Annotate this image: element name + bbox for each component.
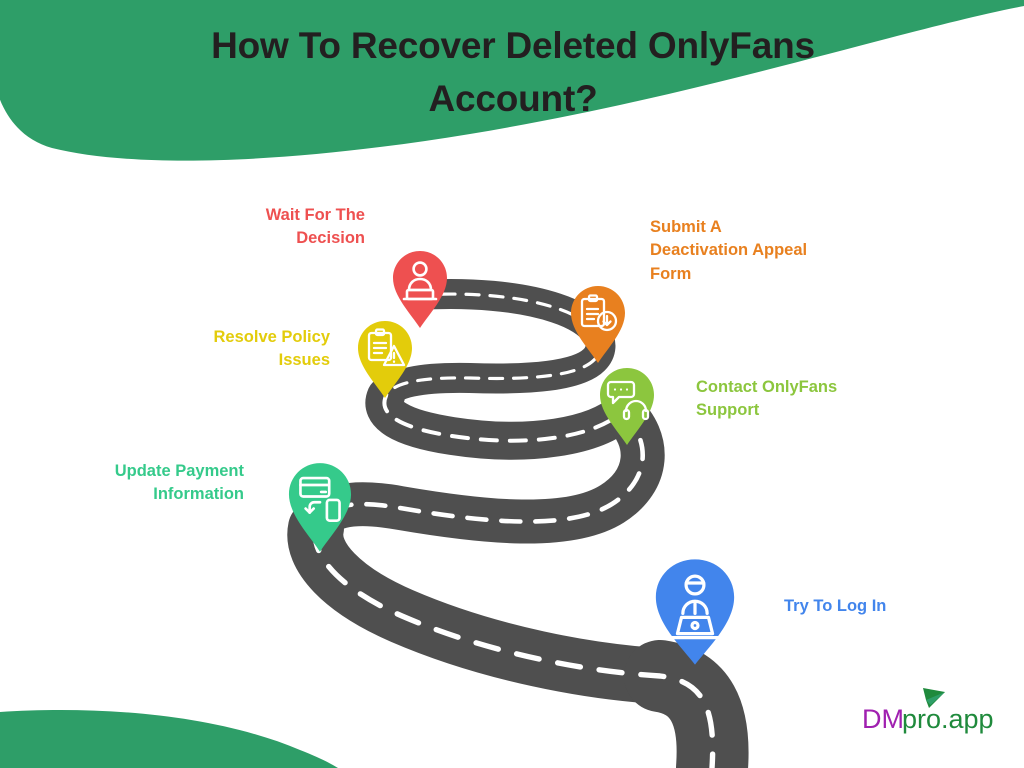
- dmpro-logo[interactable]: DM pro.app: [862, 686, 994, 736]
- card-phone-icon: [284, 462, 356, 554]
- pin-contact-onlyfans-support[interactable]: [596, 367, 658, 447]
- pin-update-payment-information[interactable]: [284, 462, 356, 554]
- logo-text-dm: DM: [862, 704, 904, 734]
- pin-try-to-log-in[interactable]: [652, 558, 738, 666]
- road-segment-bottom-flare: [660, 676, 713, 768]
- step-label-update-payment-information: Update Payment Information: [62, 460, 244, 507]
- step-label-try-to-log-in: Try To Log In: [784, 595, 984, 618]
- road-segment-upper-mid: [384, 396, 622, 441]
- clipboard-download-icon: [567, 285, 629, 365]
- step-label-contact-onlyfans-support: Contact OnlyFans Support: [696, 376, 911, 423]
- infographic-canvas: How To Recover Deleted OnlyFans Account?…: [0, 0, 1024, 768]
- page-title-line-1: How To Recover Deleted OnlyFans: [108, 20, 918, 73]
- logo-text-pro-app: pro.app: [902, 704, 994, 734]
- chat-headset-icon: [596, 367, 658, 447]
- person-laptop-icon: [652, 558, 738, 666]
- step-label-resolve-policy-issues: Resolve Policy Issues: [150, 326, 330, 373]
- page-title-line-2: Account?: [108, 73, 918, 126]
- person-at-desk-icon: [389, 250, 451, 330]
- page-title: How To Recover Deleted OnlyFans Account?: [108, 20, 918, 125]
- step-label-submit-a-deactivation-appeal-form: Submit A Deactivation Appeal Form: [650, 216, 870, 286]
- pin-wait-for-the-decision[interactable]: [389, 250, 451, 330]
- pin-resolve-policy-issues[interactable]: [354, 320, 416, 400]
- step-label-wait-for-the-decision: Wait For The Decision: [188, 204, 365, 251]
- clipboard-warning-icon: [354, 320, 416, 400]
- dmpro-logo-graphic: DM pro.app: [862, 686, 994, 736]
- pin-submit-a-deactivation-appeal-form[interactable]: [567, 285, 629, 365]
